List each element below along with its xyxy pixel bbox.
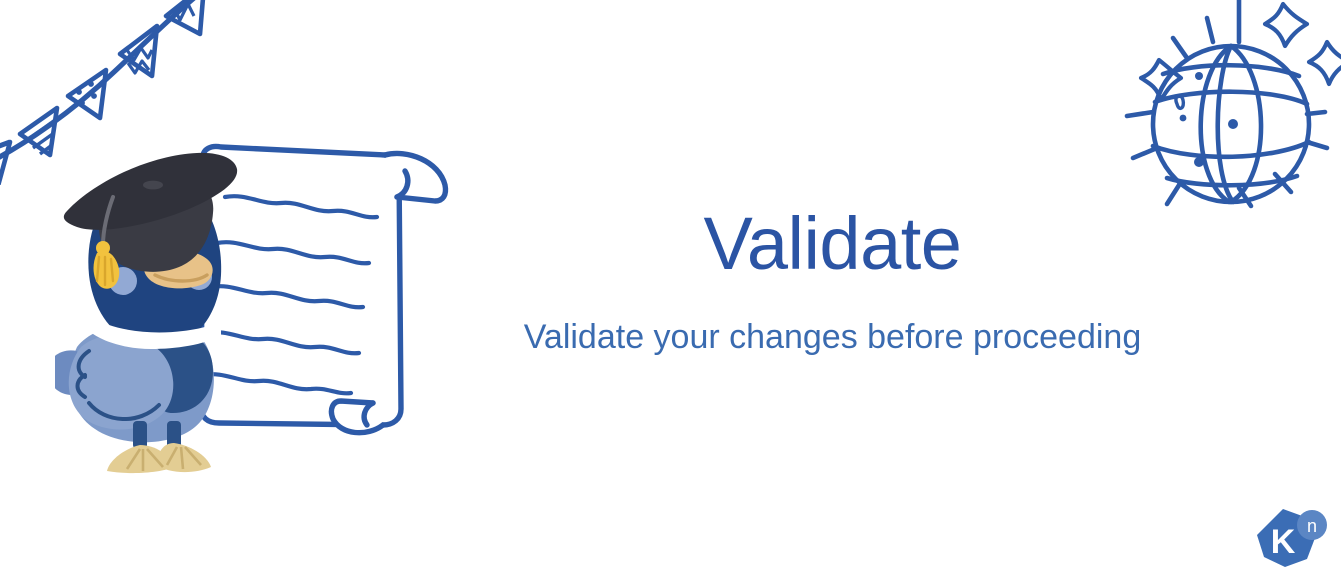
bunting-flag-stripes [20,108,57,155]
hero-text-block: Validate Validate your changes before pr… [465,205,1200,358]
bird-leg-left [133,421,147,449]
disco-ball-illustration [1111,0,1341,231]
bunting-flag-zigzag [120,26,157,76]
graduate-bird-with-scroll-illustration [55,135,465,475]
bird-wing [69,335,174,429]
bunting-flag-dots [68,70,106,118]
logo-letter-n: n [1307,516,1317,536]
sparkle-icon [1141,60,1181,100]
slide-canvas: Validate Validate your changes before pr… [0,0,1341,585]
page-title: Validate [465,205,1200,283]
kn-logo[interactable]: K n [1249,505,1329,577]
sparkle-icon [1309,42,1341,84]
bird-mascot [55,153,237,473]
bunting-flag-plain [0,142,10,185]
page-subtitle: Validate your changes before proceeding [465,317,1200,358]
sparkle-icon [1265,4,1307,46]
logo-letter-k: K [1271,523,1296,561]
bunting-flag-corner [166,0,204,34]
